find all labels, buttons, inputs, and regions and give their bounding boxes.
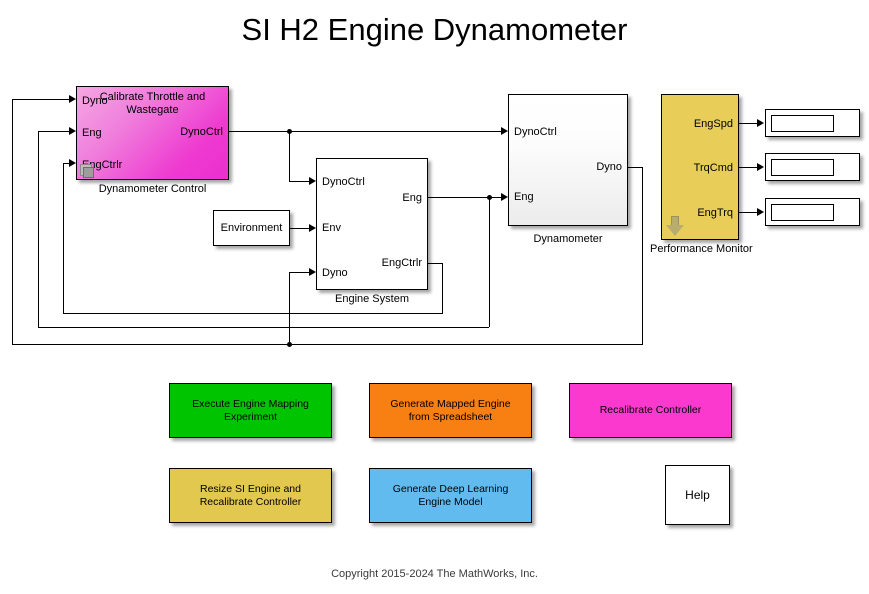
port-out-engspd: EngSpd xyxy=(694,118,733,130)
recal-label-line1: Recalibrate Controller xyxy=(600,404,702,417)
signal-dyno-h xyxy=(12,344,643,345)
block-environment[interactable]: Environment xyxy=(213,210,290,246)
arrow-dynoctrl-to-engine xyxy=(309,177,316,185)
signal-eng-feedback-h xyxy=(38,327,489,328)
deep-label-line1: Generate Deep Learning xyxy=(393,483,509,496)
button-help[interactable]: Help xyxy=(665,465,730,525)
button-generate-mapped-engine[interactable]: Generate Mapped Engine from Spreadsheet xyxy=(369,383,532,438)
display-trqcmd-value xyxy=(771,159,834,176)
signal-dyno-v xyxy=(642,167,643,344)
port-out-engctrlr: EngCtrlr xyxy=(382,257,422,269)
display-engtrq-value xyxy=(771,204,834,221)
signal-eng-feedback-v xyxy=(489,197,490,327)
arrow-eng-to-dynamometer xyxy=(501,193,508,201)
display-trqcmd[interactable] xyxy=(765,153,860,181)
port-out-trqcmd: TrqCmd xyxy=(694,162,733,174)
subsystem-mask-icon xyxy=(78,162,94,178)
port-in-eng: Eng xyxy=(82,127,102,139)
copyright-text: Copyright 2015-2024 The MathWorks, Inc. xyxy=(0,568,869,580)
page-title: SI H2 Engine Dynamometer xyxy=(0,12,869,48)
display-engtrq[interactable] xyxy=(765,198,860,226)
port-in-eng-dynamometer: Eng xyxy=(514,191,534,203)
port-out-eng: Eng xyxy=(402,192,422,204)
execute-label-line1: Execute Engine Mapping xyxy=(192,398,309,411)
display-engspd[interactable] xyxy=(765,109,860,137)
label-dynamometer-control: Dynamometer Control xyxy=(76,183,229,195)
label-engine-system: Engine System xyxy=(316,293,428,305)
arrow-engspd xyxy=(757,119,764,127)
signal-eng-feedback-in xyxy=(38,131,69,132)
port-out-dyno: Dyno xyxy=(596,161,622,173)
arrow-dyno-to-engine xyxy=(309,268,316,276)
signal-engctrlr-left xyxy=(63,163,64,313)
block-dynamometer-control[interactable]: Calibrate Throttle and Wastegate Dyno En… xyxy=(76,86,229,180)
arrow-eng-to-control xyxy=(69,127,76,135)
port-in-dyno-engine: Dyno xyxy=(322,267,348,279)
button-execute-engine-mapping[interactable]: Execute Engine Mapping Experiment xyxy=(169,383,332,438)
resize-label-line1: Resize SI Engine and xyxy=(200,483,302,496)
display-engspd-value xyxy=(771,115,834,132)
port-in-dyno: Dyno xyxy=(82,95,108,107)
port-out-dynoctrl: DynoCtrl xyxy=(180,126,223,138)
signal-dyno-branch-h xyxy=(289,272,309,273)
signal-env xyxy=(290,228,309,229)
resize-label-line2: Recalibrate Controller xyxy=(200,496,302,509)
signal-dyno-branch-v xyxy=(289,272,290,344)
port-in-dynoctrl-dynamometer: DynoCtrl xyxy=(514,126,557,138)
port-in-env: Env xyxy=(322,222,341,234)
down-arrow-icon xyxy=(666,216,684,236)
signal-dyno-out xyxy=(628,167,643,168)
signal-dynoctrl-branch-h xyxy=(289,181,309,182)
signal-dynoctrl-branch xyxy=(289,131,290,181)
signal-engctrlr-v xyxy=(442,263,443,313)
button-recalibrate-controller[interactable]: Recalibrate Controller xyxy=(569,383,732,438)
execute-label-line2: Experiment xyxy=(192,411,309,424)
label-dynamometer: Dynamometer xyxy=(508,233,628,245)
block-dynamometer[interactable]: DynoCtrl Eng Dyno xyxy=(508,94,628,226)
environment-title: Environment xyxy=(214,222,289,235)
mapped-label-line2: from Spreadsheet xyxy=(390,411,510,424)
signal-dynoctrl xyxy=(229,131,501,132)
signal-engctrlr-out xyxy=(428,263,443,264)
arrow-trqcmd xyxy=(757,163,764,171)
port-in-dynoctrl: DynoCtrl xyxy=(322,176,365,188)
mapped-label-line1: Generate Mapped Engine xyxy=(390,398,510,411)
arrow-engctrlr-to-control xyxy=(69,159,76,167)
signal-dyno-left xyxy=(12,99,13,344)
simulink-model-canvas: SI H2 Engine Dynamometer Calibra xyxy=(0,0,869,594)
deep-label-line2: Engine Model xyxy=(393,496,509,509)
signal-eng-feedback-left xyxy=(38,131,39,327)
block-engine-system[interactable]: DynoCtrl Env Dyno Eng EngCtrlr xyxy=(316,158,428,290)
button-resize-si-engine[interactable]: Resize SI Engine and Recalibrate Control… xyxy=(169,468,332,523)
arrow-env-to-engine xyxy=(309,224,316,232)
arrow-engtrq xyxy=(757,208,764,216)
arrow-dynoctrl-to-dynamometer xyxy=(501,127,508,135)
port-out-engtrq: EngTrq xyxy=(697,207,733,219)
label-performance-monitor: Performance Monitor xyxy=(650,243,750,255)
signal-engctrlr-h xyxy=(63,313,443,314)
signal-dyno-in xyxy=(12,99,69,100)
arrow-dyno-to-control xyxy=(69,95,76,103)
help-label: Help xyxy=(685,489,710,502)
button-generate-deep-learning[interactable]: Generate Deep Learning Engine Model xyxy=(369,468,532,523)
